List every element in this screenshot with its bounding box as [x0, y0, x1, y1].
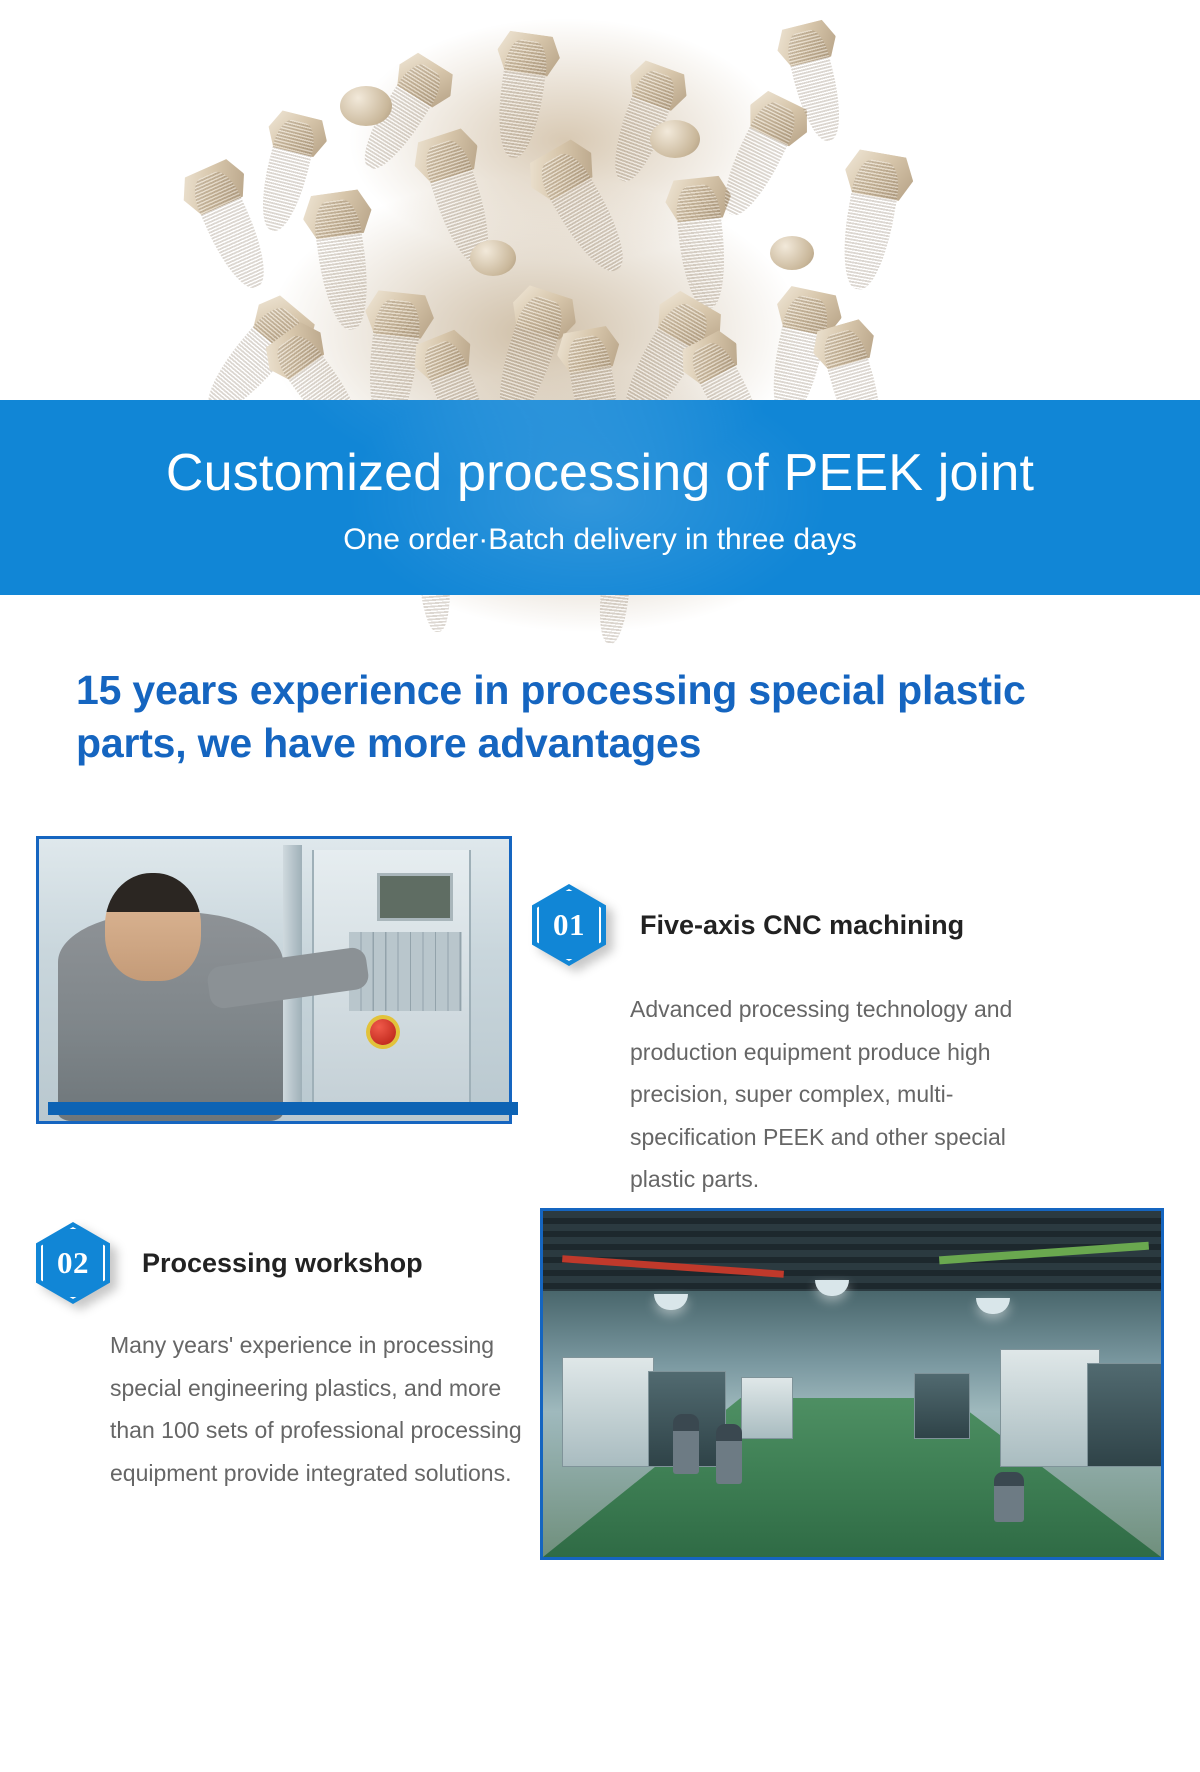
feature-image-02: [540, 1208, 1164, 1560]
feature-number-02: 02: [36, 1222, 110, 1304]
product-detail-page: Customized processing of PEEK joint One …: [0, 0, 1200, 1772]
hero-banner: Customized processing of PEEK joint One …: [0, 400, 1200, 595]
feature-heading-row-02: 02 Processing workshop: [36, 1222, 536, 1304]
feature-heading-row-01: 01 Five-axis CNC machining: [532, 884, 1072, 966]
section-headline: 15 years experience in processing specia…: [76, 664, 1086, 771]
banner-subtitle: One order·Batch delivery in three days: [0, 501, 1200, 556]
banner-title: Customized processing of PEEK joint: [0, 400, 1200, 501]
feature-block-02: 02 Processing workshop Many years' exper…: [0, 1208, 1200, 1768]
feature-body-02: Many years' experience in processing spe…: [110, 1324, 522, 1494]
image-accent-bar-01: [48, 1102, 518, 1115]
hex-badge-icon-02: 02: [36, 1222, 110, 1304]
feature-title-01: Five-axis CNC machining: [640, 910, 964, 941]
feature-number-01: 01: [532, 884, 606, 966]
feature-image-01: [36, 836, 512, 1124]
feature-title-02: Processing workshop: [142, 1248, 423, 1279]
hex-badge-icon-01: 01: [532, 884, 606, 966]
feature-block-01: 01 Five-axis CNC machining Advanced proc…: [0, 828, 1200, 1180]
feature-body-01: Advanced processing technology and produ…: [630, 988, 1060, 1201]
